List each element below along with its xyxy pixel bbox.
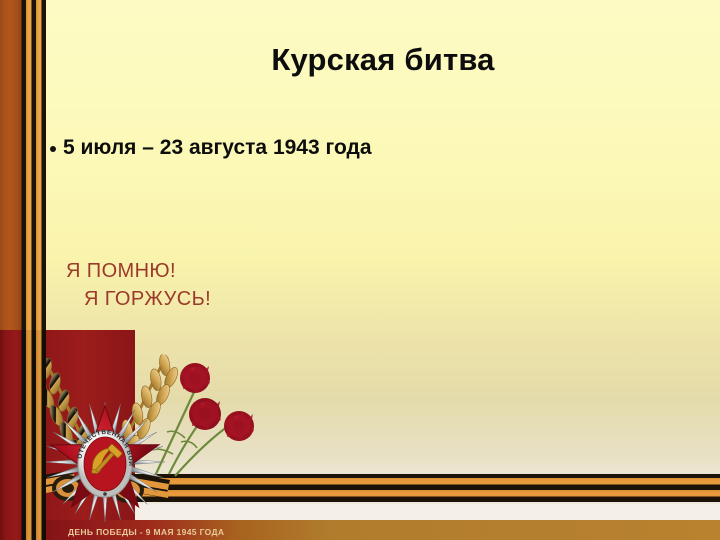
slogan-line-1: Я ПОМНЮ! [66, 260, 176, 282]
presentation-slide: ДЕНЬ ПОБЕДЫ - 9 МАЯ 1945 ГОДА [0, 0, 720, 540]
bullet-marker-icon [50, 146, 56, 152]
bullet-list-item: 5 июля – 23 августа 1943 года [50, 135, 372, 161]
slogan-line-2: Я ГОРЖУСЬ! [66, 286, 211, 314]
bullet-item-label: 5 июля – 23 августа 1943 года [63, 135, 372, 161]
st-george-ribbon-vertical-lower [0, 330, 46, 540]
victory-day-caption: ДЕНЬ ПОБЕДЫ - 9 МАЯ 1945 ГОДА [68, 527, 224, 537]
page-title: Курская битва [46, 44, 720, 77]
memorial-slogan: Я ПОМНЮ! Я ГОРЖУСЬ! [66, 258, 211, 313]
order-of-patriotic-war-medal-icon: ОТЕЧЕСТВЕННАЯ ВОЙНА [44, 398, 166, 524]
